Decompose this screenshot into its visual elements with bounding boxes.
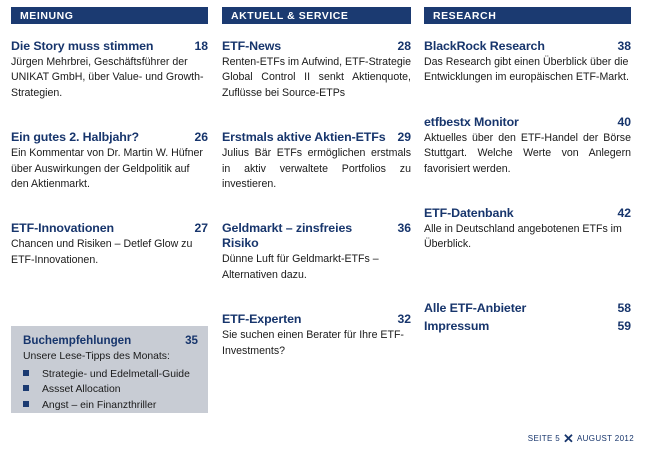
toc-entry-head: Geldmarkt – zinsfreies Risiko 36: [222, 221, 411, 251]
toc-page: MEINUNG Die Story muss stimmen 18 Jürgen…: [0, 0, 651, 452]
square-bullet-icon: [23, 401, 29, 407]
buchempfehlungen-subtitle: Unsere Lese-Tipps des Monats:: [23, 350, 198, 364]
toc-entry-page: 29: [397, 130, 411, 144]
toc-entry-desc: Dünne Luft für Geldmarkt-ETFs – Alternat…: [222, 252, 411, 283]
toc-entry-desc: Julius Bär ETFs ermöglichen erstmals in …: [222, 146, 411, 192]
toc-entry-head: etfbestx Monitor 40: [424, 115, 631, 130]
toc-entry-page: 42: [617, 206, 631, 220]
toc-entry[interactable]: Die Story muss stimmen 18 Jürgen Mehrbre…: [11, 39, 208, 101]
toc-link-title[interactable]: Impressum: [424, 318, 489, 334]
list-item-label: Angst – ein Finanzthriller: [42, 398, 156, 413]
list-item-label: Assset Allocation: [42, 382, 121, 397]
toc-entry-page: 38: [617, 39, 631, 53]
toc-entry-head: BlackRock Research 38: [424, 39, 631, 54]
toc-entry-title[interactable]: etfbestx Monitor: [424, 115, 519, 130]
toc-entry[interactable]: Ein gutes 2. Halbjahr? 26 Ein Kommentar …: [11, 130, 208, 192]
column-meinung: MEINUNG Die Story muss stimmen 18 Jürgen…: [11, 0, 208, 281]
section-header-meinung: MEINUNG: [11, 7, 208, 24]
toc-entry-title[interactable]: BlackRock Research: [424, 39, 545, 54]
toc-link-row[interactable]: Alle ETF-Anbieter 58: [424, 300, 631, 316]
square-bullet-icon: [23, 385, 29, 391]
toc-entry-head: Erstmals aktive Aktien-ETFs 29: [222, 130, 411, 145]
toc-entry[interactable]: ETF-Innovationen 27 Chancen und Risiken …: [11, 221, 208, 268]
entry-gap: [424, 190, 631, 206]
entry-gap: [424, 99, 631, 115]
toc-entry-title[interactable]: Die Story muss stimmen: [11, 39, 153, 54]
toc-entry[interactable]: Erstmals aktive Aktien-ETFs 29 Julius Bä…: [222, 130, 411, 192]
section-header-label: MEINUNG: [20, 10, 73, 22]
entry-gap: [424, 266, 631, 300]
toc-entry[interactable]: ETF-News 28 Renten-ETFs im Aufwind, ETF-…: [222, 39, 411, 101]
toc-entry-head: ETF-Datenbank 42: [424, 206, 631, 221]
toc-entry-title[interactable]: ETF-Experten: [222, 312, 301, 327]
toc-link-row[interactable]: Impressum 59: [424, 318, 631, 334]
entry-list-research: BlackRock Research 38 Das Research gibt …: [424, 39, 631, 334]
toc-entry-page: 28: [397, 39, 411, 53]
toc-entry-head: ETF-Innovationen 27: [11, 221, 208, 236]
entry-gap: [222, 114, 411, 130]
column-aktuell-service: AKTUELL & SERVICE ETF-News 28 Renten-ETF…: [222, 0, 411, 372]
section-header-aktuell-service: AKTUELL & SERVICE: [222, 7, 411, 24]
buchempfehlungen-title: Buchempfehlungen: [23, 334, 131, 347]
toc-entry-head: ETF-Experten 32: [222, 312, 411, 327]
toc-entry-head: Ein gutes 2. Halbjahr? 26: [11, 130, 208, 145]
footer-issue-label: AUGUST 2012: [577, 434, 634, 443]
list-item[interactable]: Strategie- und Edelmetall-Guide: [23, 367, 198, 382]
toc-entry-desc: Das Research gibt einen Überblick über d…: [424, 55, 631, 86]
section-header-label: AKTUELL & SERVICE: [231, 10, 348, 22]
toc-entry[interactable]: ETF-Experten 32 Sie suchen einen Berater…: [222, 312, 411, 359]
buchempfehlungen-head: Buchempfehlungen 35: [23, 334, 198, 347]
section-header-label: RESEARCH: [433, 10, 496, 22]
toc-entry-desc: Chancen und Risiken – Detlef Glow zu ETF…: [11, 237, 208, 268]
toc-entry-desc: Jürgen Mehrbrei, Geschäftsführer der UNI…: [11, 55, 208, 101]
toc-entry-title[interactable]: ETF-Innovationen: [11, 221, 114, 236]
toc-entry-title[interactable]: ETF-News: [222, 39, 281, 54]
page-footer: SEITE 5 ✕ AUGUST 2012: [528, 434, 634, 443]
toc-entry-title[interactable]: Erstmals aktive Aktien-ETFs: [222, 130, 386, 145]
footer-page-label: SEITE 5: [528, 434, 560, 443]
entry-gap: [11, 205, 208, 221]
toc-entry-desc: Aktuelles über den ETF-Handel der Börse …: [424, 131, 631, 177]
cross-separator-icon: ✕: [563, 435, 574, 443]
toc-entry-page: 27: [194, 221, 208, 235]
section-header-research: RESEARCH: [424, 7, 631, 24]
toc-entry-desc: Ein Kommentar von Dr. Martin W. Hüfner ü…: [11, 146, 208, 192]
toc-link-page: 58: [617, 301, 631, 315]
toc-entry-desc: Renten-ETFs im Aufwind, ETF-Strategie Gl…: [222, 55, 411, 101]
entry-list-aktuell-service: ETF-News 28 Renten-ETFs im Aufwind, ETF-…: [222, 39, 411, 359]
buchempfehlungen-box[interactable]: Buchempfehlungen 35 Unsere Lese-Tipps de…: [11, 326, 208, 413]
list-item[interactable]: Angst – ein Finanzthriller: [23, 398, 198, 413]
entry-gap: [222, 205, 411, 221]
toc-entry-title[interactable]: ETF-Datenbank: [424, 206, 514, 221]
toc-entry-desc: Alle in Deutschland angebotenen ETFs im …: [424, 222, 631, 253]
buchempfehlungen-page: 35: [185, 334, 198, 347]
toc-link-title[interactable]: Alle ETF-Anbieter: [424, 300, 526, 316]
toc-entry[interactable]: ETF-Datenbank 42 Alle in Deutschland ang…: [424, 206, 631, 253]
toc-entry[interactable]: etfbestx Monitor 40 Aktuelles über den E…: [424, 115, 631, 177]
toc-entry-page: 32: [397, 312, 411, 326]
toc-entry-page: 26: [194, 130, 208, 144]
entry-list-meinung: Die Story muss stimmen 18 Jürgen Mehrbre…: [11, 39, 208, 268]
toc-entry-head: ETF-News 28: [222, 39, 411, 54]
toc-entry-title[interactable]: Geldmarkt – zinsfreies Risiko: [222, 221, 391, 251]
buchempfehlungen-list: Strategie- und Edelmetall-Guide Assset A…: [23, 367, 198, 413]
toc-entry-page: 18: [194, 39, 208, 53]
toc-link-page: 59: [617, 319, 631, 333]
entry-gap: [11, 114, 208, 130]
list-item[interactable]: Assset Allocation: [23, 382, 198, 397]
entry-gap: [222, 296, 411, 312]
square-bullet-icon: [23, 370, 29, 376]
toc-entry-desc: Sie suchen einen Berater für Ihre ETF-In…: [222, 328, 411, 359]
toc-entry-head: Die Story muss stimmen 18: [11, 39, 208, 54]
toc-entry-page: 36: [397, 221, 411, 235]
column-research: RESEARCH BlackRock Research 38 Das Resea…: [424, 0, 631, 336]
toc-entry-title[interactable]: Ein gutes 2. Halbjahr?: [11, 130, 139, 145]
list-item-label: Strategie- und Edelmetall-Guide: [42, 367, 190, 382]
toc-entry-page: 40: [617, 115, 631, 129]
toc-entry[interactable]: Geldmarkt – zinsfreies Risiko 36 Dünne L…: [222, 221, 411, 283]
toc-entry[interactable]: BlackRock Research 38 Das Research gibt …: [424, 39, 631, 86]
